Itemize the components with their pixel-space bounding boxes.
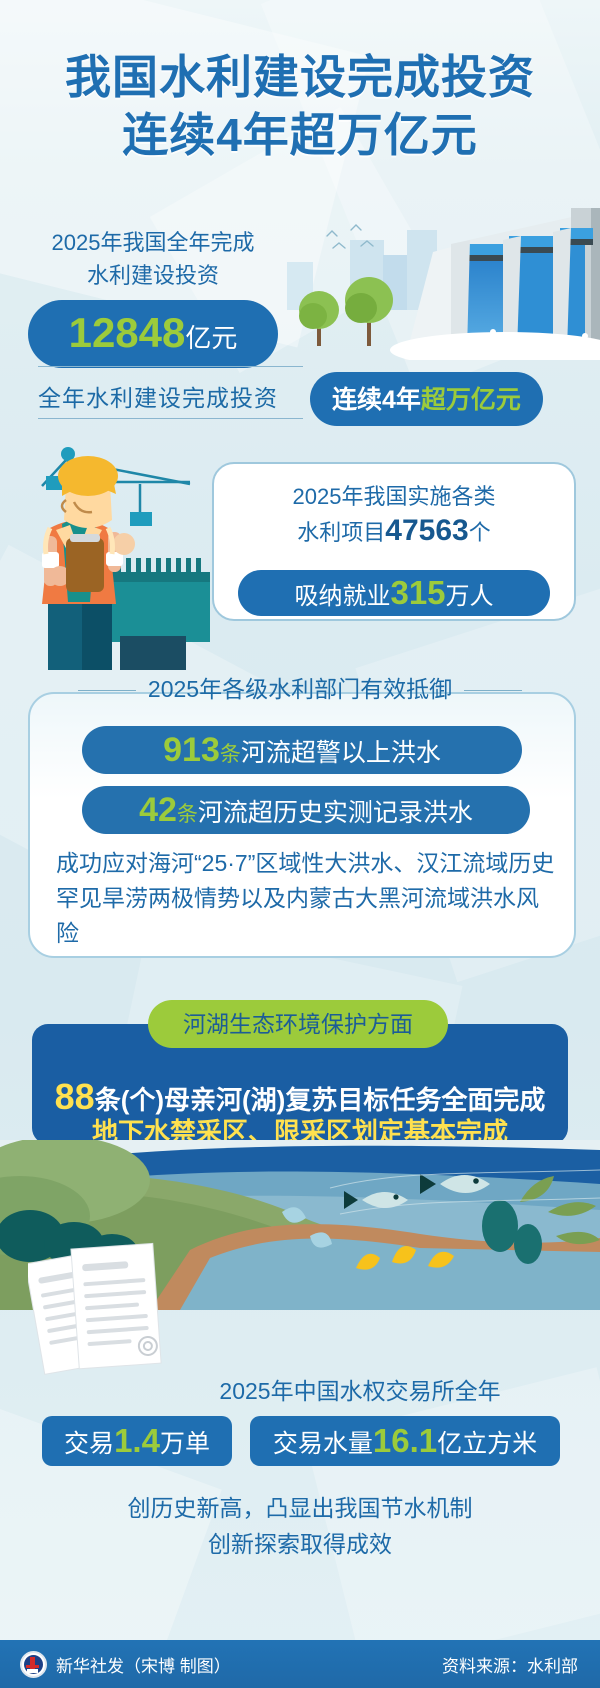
trade-orders-pill: 交易1.4万单 [42, 1416, 232, 1466]
dam-svg [255, 200, 600, 360]
projects-card-text: 2025年我国实施各类 水利项目47563个 [214, 480, 574, 550]
flood-body-text: 成功应对海河“25·7”区域性大洪水、汉江流域历史罕见旱涝两极情势以及内蒙古大黑… [56, 846, 556, 951]
streak-pill: 连续4年超万亿元 [310, 372, 543, 426]
trade-pill2-prefix: 交易水量 [273, 1430, 373, 1458]
streak-pill-prefix: 连续4年 [332, 386, 421, 414]
flood-pill2-text: 河流超历史实测记录洪水 [198, 799, 473, 827]
trade-pill1-prefix: 交易 [64, 1430, 114, 1458]
footer-credit-text: 新华社发（宋博 制图） [56, 1652, 231, 1677]
trade-note-line2: 创新探索取得成效 [40, 1526, 560, 1562]
divider-top [38, 366, 303, 367]
investment-section: 2025年我国全年完成 水利建设投资 12848亿元 [28, 226, 278, 368]
flood-card: 913条河流超警以上洪水 42条河流超历史实测记录洪水 成功应对海河“25·7”… [28, 692, 576, 958]
flood-pill1-unit: 条 [220, 743, 241, 766]
investment-label-line1: 2025年我国全年完成 [28, 226, 278, 259]
trade-note-line1: 创历史新高，凸显出我国节水机制 [40, 1490, 560, 1526]
projects-line2-prefix: 水利项目 [297, 520, 385, 545]
trade-volume-pill: 交易水量16.1亿立方米 [250, 1416, 560, 1466]
employment-pill: 吸纳就业315万人 [238, 570, 550, 616]
worker-illustration [20, 440, 230, 670]
projects-line2: 水利项目47563个 [214, 514, 574, 550]
projects-line1: 2025年我国实施各类 [214, 480, 574, 514]
employment-suffix: 万人 [446, 583, 494, 610]
infographic-page: 我国水利建设完成投资 连续4年超万亿元 [0, 0, 600, 1688]
divider-bottom [38, 418, 303, 419]
heading-rule-left [78, 690, 136, 691]
dam-illustration [255, 200, 600, 360]
investment-amount-unit: 亿元 [185, 323, 237, 353]
footer-credit-group: 新华社发（宋博 制图） [20, 1640, 231, 1688]
projects-line2-suffix: 个 [469, 520, 491, 545]
flood-pill-record: 42条河流超历史实测记录洪水 [82, 786, 530, 834]
trade-note: 创历史新高，凸显出我国节水机制 创新探索取得成效 [40, 1490, 560, 1562]
flood-pill1-text: 河流超警以上洪水 [241, 739, 441, 767]
streak-pill-highlight: 超万亿元 [421, 386, 521, 414]
employment-value: 315 [390, 574, 445, 611]
eco-mother-river-value: 88 [55, 1076, 95, 1117]
title-line-1: 我国水利建设完成投资 [0, 48, 600, 106]
page-title: 我国水利建设完成投资 连续4年超万亿元 [0, 48, 600, 164]
streak-label: 全年水利建设完成投资 [38, 379, 303, 413]
heading-rule-right [464, 690, 522, 691]
worker-svg [20, 440, 230, 670]
trade-pill1-value: 1.4 [114, 1422, 160, 1459]
eco-line1-text: 条(个)母亲河(湖)复苏目标任务全面完成 [95, 1085, 546, 1115]
flood-pill2-unit: 条 [177, 803, 198, 826]
flood-heading-text: 2025年各级水利部门有效抵御 [148, 676, 452, 702]
flood-pill2-value: 42 [139, 791, 177, 829]
trade-pill2-value: 16.1 [373, 1422, 437, 1459]
investment-amount-value: 12848 [69, 309, 186, 356]
investment-label-line2: 水利建设投资 [28, 259, 278, 292]
footer-bar: 新华社发（宋博 制图） 资料来源：水利部 [0, 1640, 600, 1688]
trade-pill2-suffix: 亿立方米 [437, 1430, 537, 1458]
employment-prefix: 吸纳就业 [294, 583, 390, 610]
trade-pill1-suffix: 万单 [160, 1430, 210, 1458]
footer-source: 资料来源：水利部 [442, 1640, 578, 1688]
title-line-2: 连续4年超万亿元 [0, 106, 600, 164]
flood-pill1-value: 913 [163, 731, 220, 769]
eco-heading-pill: 河湖生态环境保护方面 [148, 1000, 448, 1048]
projects-count-value: 47563 [385, 514, 468, 547]
projects-card: 2025年我国实施各类 水利项目47563个 吸纳就业315万人 [212, 462, 576, 621]
flood-heading: 2025年各级水利部门有效抵御 [0, 670, 600, 704]
flood-pill-warning: 913条河流超警以上洪水 [82, 726, 522, 774]
trade-title: 2025年中国水权交易所全年 [140, 1372, 580, 1406]
investment-amount-pill: 12848亿元 [28, 300, 278, 368]
xinhua-logo-icon [20, 1651, 47, 1678]
